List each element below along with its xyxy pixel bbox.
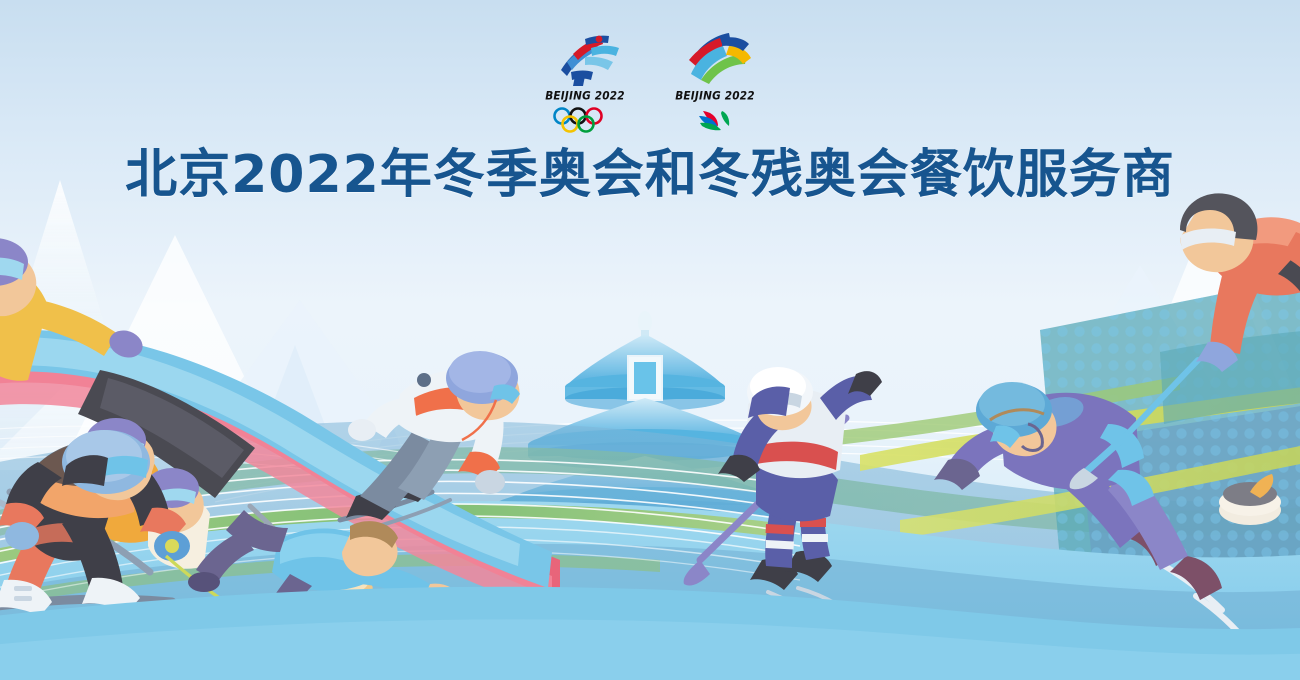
page-title: 北京2022年冬季奥会和冬残奥会餐饮服务商 <box>0 144 1300 206</box>
beijing-2022-olympic-logo: BEIJING 2022 <box>539 30 631 134</box>
paralympic-emblem-icon <box>671 30 759 88</box>
olympic-rings-icon <box>548 106 622 134</box>
olympic-emblem-icon <box>541 30 629 88</box>
olympic-catering-banner: BEIJING 2022 BEIJING 20 <box>0 0 1300 680</box>
beijing-2022-paralympic-logo: BEIJING 2022 <box>669 30 761 134</box>
paralympic-wordmark: BEIJING 2022 <box>675 89 755 102</box>
logo-row: BEIJING 2022 BEIJING 20 <box>0 30 1300 142</box>
agitos-icon <box>678 106 752 134</box>
olympic-wordmark: BEIJING 2022 <box>545 89 625 102</box>
